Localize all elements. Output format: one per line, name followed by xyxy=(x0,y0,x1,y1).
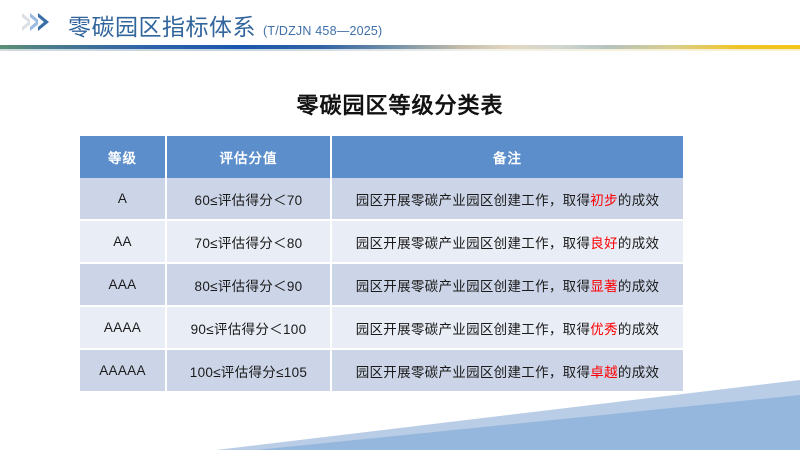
cell-score: 60≤评估得分＜70 xyxy=(166,178,331,220)
remark-highlight: 显著 xyxy=(590,279,618,294)
column-header-score: 评估分值 xyxy=(166,136,331,178)
grade-classification-table: 等级 评估分值 备注 A 60≤评估得分＜70 园区开展零碳产业园区创建工作，取… xyxy=(80,136,683,391)
remark-prefix: 园区开展零碳产业园区创建工作，取得 xyxy=(356,193,591,208)
remark-highlight: 卓越 xyxy=(590,365,618,380)
table-row: AAAAA 100≤评估得分≤105 园区开展零碳产业园区创建工作，取得卓越的成… xyxy=(80,349,683,391)
remark-prefix: 园区开展零碳产业园区创建工作，取得 xyxy=(356,322,591,337)
cell-grade: A xyxy=(80,178,166,220)
remark-suffix: 的成效 xyxy=(618,236,659,251)
slide-header: 零碳园区指标体系 (T/DZJN 458—2025) xyxy=(0,0,800,46)
cell-remark: 园区开展零碳产业园区创建工作，取得显著的成效 xyxy=(331,263,683,306)
cell-grade: AA xyxy=(80,220,166,263)
remark-suffix: 的成效 xyxy=(618,365,659,380)
cell-remark: 园区开展零碳产业园区创建工作，取得良好的成效 xyxy=(331,220,683,263)
cell-grade: AAAAA xyxy=(80,349,166,391)
cell-score: 100≤评估得分≤105 xyxy=(166,349,331,391)
page-subtitle-standard-code: (T/DZJN 458—2025) xyxy=(263,24,382,38)
cell-remark: 园区开展零碳产业园区创建工作，取得卓越的成效 xyxy=(331,349,683,391)
table-body: A 60≤评估得分＜70 园区开展零碳产业园区创建工作，取得初步的成效 AA 7… xyxy=(80,178,683,391)
remark-highlight: 初步 xyxy=(590,193,618,208)
cell-score: 90≤评估得分＜100 xyxy=(166,306,331,349)
table-title: 零碳园区等级分类表 xyxy=(0,88,800,120)
remark-prefix: 园区开展零碳产业园区创建工作，取得 xyxy=(356,236,591,251)
remark-suffix: 的成效 xyxy=(618,322,659,337)
remark-suffix: 的成效 xyxy=(618,279,659,294)
header-title-row: 零碳园区指标体系 (T/DZJN 458—2025) xyxy=(68,8,382,42)
header-divider-shadow xyxy=(0,49,800,51)
column-header-grade: 等级 xyxy=(80,136,166,178)
table-header-row: 等级 评估分值 备注 xyxy=(80,136,683,178)
table-row: AAAA 90≤评估得分＜100 园区开展零碳产业园区创建工作，取得优秀的成效 xyxy=(80,306,683,349)
cell-grade: AAAA xyxy=(80,306,166,349)
remark-prefix: 园区开展零碳产业园区创建工作，取得 xyxy=(356,279,591,294)
remark-highlight: 良好 xyxy=(590,236,618,251)
chevron-group xyxy=(22,13,46,31)
cell-remark: 园区开展零碳产业园区创建工作，取得优秀的成效 xyxy=(331,306,683,349)
table-header: 等级 评估分值 备注 xyxy=(80,136,683,178)
cell-remark: 园区开展零碳产业园区创建工作，取得初步的成效 xyxy=(331,178,683,220)
column-header-remark: 备注 xyxy=(331,136,683,178)
cell-score: 80≤评估得分＜90 xyxy=(166,263,331,306)
table-row: A 60≤评估得分＜70 园区开展零碳产业园区创建工作，取得初步的成效 xyxy=(80,178,683,220)
remark-prefix: 园区开展零碳产业园区创建工作，取得 xyxy=(356,365,591,380)
remark-suffix: 的成效 xyxy=(618,193,659,208)
remark-highlight: 优秀 xyxy=(590,322,618,337)
cell-score: 70≤评估得分＜80 xyxy=(166,220,331,263)
chevron-right-icon-3 xyxy=(38,13,49,31)
table-row: AAA 80≤评估得分＜90 园区开展零碳产业园区创建工作，取得显著的成效 xyxy=(80,263,683,306)
table-row: AA 70≤评估得分＜80 园区开展零碳产业园区创建工作，取得良好的成效 xyxy=(80,220,683,263)
page-title: 零碳园区指标体系 xyxy=(68,8,256,42)
cell-grade: AAA xyxy=(80,263,166,306)
